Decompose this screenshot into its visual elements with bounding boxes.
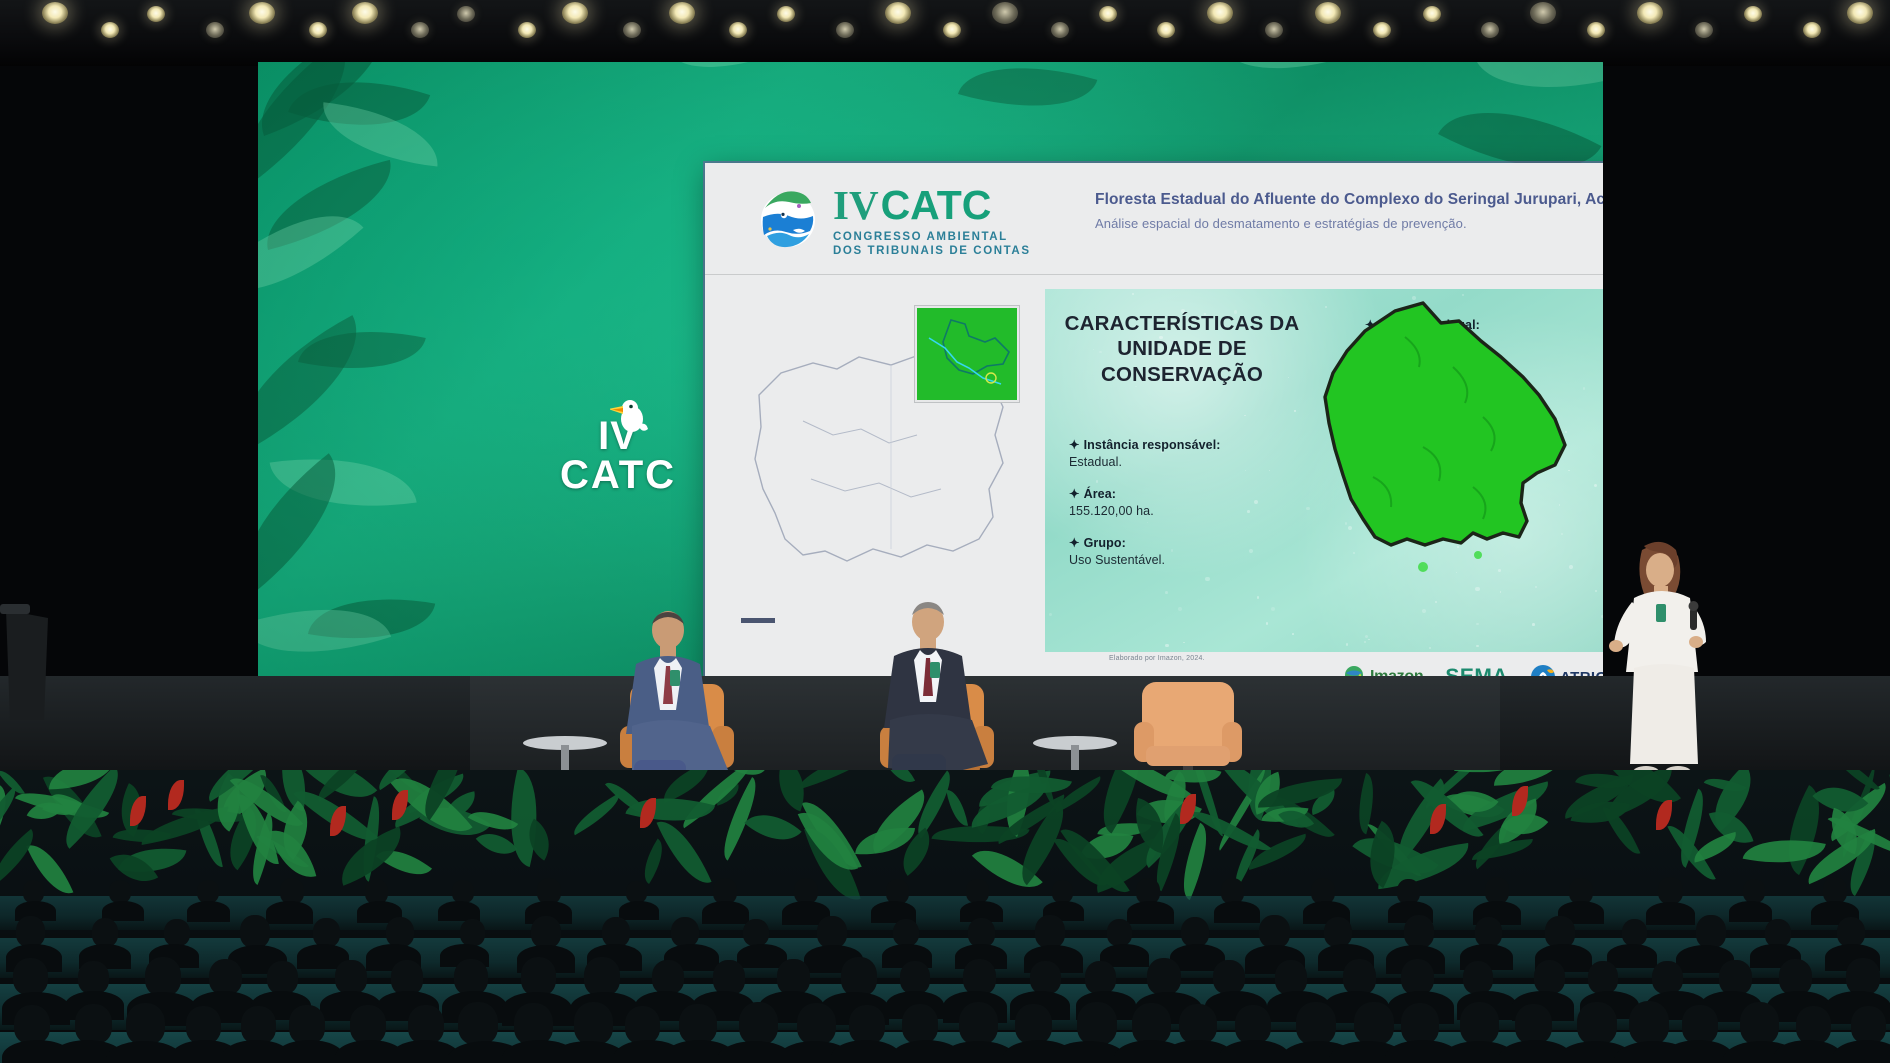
audience-head <box>280 878 304 904</box>
ceiling-light <box>1803 22 1821 38</box>
audience-head <box>23 880 44 903</box>
audience-head <box>1259 915 1290 948</box>
audience-head <box>1740 1002 1780 1045</box>
audience-shoulders <box>187 901 230 922</box>
partner-logos: Imazon SEMA ATRICON <box>1341 657 1603 676</box>
audience-head <box>1475 917 1502 947</box>
conservation-unit-polygon <box>1273 297 1603 649</box>
audience-head <box>335 960 366 994</box>
ceiling-light <box>309 22 327 38</box>
ceiling-light <box>1481 22 1499 38</box>
audience-head <box>1765 919 1791 947</box>
bullet-marker-icon: ✦ <box>1069 536 1080 550</box>
audience-head <box>713 960 745 994</box>
ceiling-light <box>562 2 588 24</box>
leaf-decoration <box>958 62 1097 130</box>
audience-head <box>1136 878 1160 904</box>
audience-head <box>1354 1002 1393 1045</box>
texture-speck <box>1049 613 1052 616</box>
audience-head <box>574 1002 613 1045</box>
audience-head <box>240 915 271 948</box>
audience-head <box>1463 961 1494 994</box>
audience-head <box>1577 1002 1617 1045</box>
atricon-mark-icon <box>1530 664 1556 676</box>
audience-head <box>1324 917 1352 948</box>
slide-brand-tagline1: CONGRESSO AMBIENTAL <box>833 232 1031 244</box>
decorative-plant <box>885 770 916 789</box>
ceiling-light <box>1744 6 1762 22</box>
audience-head <box>1696 915 1726 947</box>
audience-head <box>267 961 298 994</box>
audience-head <box>1569 878 1593 904</box>
ceiling-light <box>885 2 911 24</box>
audience-head <box>365 879 388 904</box>
audience-head <box>1397 879 1420 904</box>
audience-head <box>452 880 473 903</box>
audience-head <box>1629 1001 1670 1045</box>
atricon-logo: ATRICON <box>1530 664 1603 676</box>
ceiling-light <box>1423 6 1441 22</box>
audience-head <box>386 917 414 947</box>
slide-brand-acronym: CATC <box>881 182 992 228</box>
ceiling-light <box>777 6 795 22</box>
presentation-slide: IVCATC CONGRESSO AMBIENTAL DOS TRIBUNAIS… <box>705 163 1603 676</box>
slide-brand-text: IVCATC CONGRESSO AMBIENTAL DOS TRIBUNAIS… <box>833 181 1031 257</box>
audience-head <box>1404 915 1435 948</box>
ceiling-light <box>836 22 854 38</box>
ceiling-light <box>101 22 119 38</box>
audience-head <box>602 917 630 947</box>
audience-head <box>14 1005 50 1044</box>
audience-head <box>209 959 242 995</box>
texture-speck <box>1165 591 1168 594</box>
audience-head <box>350 1005 386 1044</box>
audience-head <box>841 957 876 995</box>
texture-speck <box>1462 294 1463 295</box>
ceiling-light <box>1637 2 1663 24</box>
bullet-grupo-label: Grupo: <box>1084 536 1126 550</box>
audience-head <box>1851 1006 1886 1044</box>
audience-head <box>1719 960 1751 995</box>
texture-speck <box>1266 622 1268 624</box>
audience-head <box>78 961 109 994</box>
imazon-logo-text: Imazon <box>1370 668 1423 676</box>
texture-speck <box>1183 642 1184 643</box>
audience-head <box>1132 1003 1170 1044</box>
ceiling-light <box>623 22 641 38</box>
audience-head <box>1147 958 1181 995</box>
audience-head <box>1796 1006 1831 1044</box>
audience-head <box>186 1006 221 1044</box>
ceiling-light <box>1207 2 1233 24</box>
audience-head <box>164 919 190 947</box>
ceiling-light <box>669 2 695 24</box>
audience-head <box>241 1006 276 1044</box>
audience-head <box>652 960 683 994</box>
slide-brand-tagline2: DOS TRIBUNAIS DE CONTAS <box>833 246 1031 258</box>
lectern <box>0 600 60 730</box>
ceiling-light <box>992 2 1018 24</box>
audience-head <box>460 919 485 946</box>
slide-header: IVCATC CONGRESSO AMBIENTAL DOS TRIBUNAIS… <box>705 163 1603 275</box>
bullet-marker-icon: ✦ <box>1069 487 1080 501</box>
slide-title-block: Floresta Estadual do Afluente do Complex… <box>1095 191 1603 231</box>
audience-head <box>92 918 119 947</box>
audience-shoulders <box>702 901 749 924</box>
audience-head <box>1823 877 1848 904</box>
audience-head <box>886 879 909 904</box>
bullet-instancia: ✦Instância responsável: Estadual. <box>1069 437 1301 469</box>
ceiling-light <box>206 22 224 38</box>
audience-head <box>289 1005 324 1043</box>
audience-head <box>458 1002 498 1045</box>
ceiling-light <box>1373 22 1391 38</box>
audience-head <box>16 916 45 947</box>
audience-head <box>1401 1003 1439 1044</box>
sema-logo: SEMA <box>1445 665 1508 676</box>
bullet-instancia-value: Estadual. <box>1069 455 1301 469</box>
audience-shoulders <box>1214 901 1260 923</box>
audience-head <box>739 1002 778 1045</box>
decorative-plant <box>1350 773 1383 834</box>
audience-head <box>959 1002 999 1045</box>
audience-head <box>1221 878 1244 903</box>
audience-head <box>1460 1002 1499 1045</box>
wall-logo-left: IV CATC <box>558 417 678 495</box>
audience-head <box>1035 915 1065 947</box>
globe-icon <box>753 184 823 254</box>
audience-head <box>1275 960 1307 995</box>
audience-head <box>794 878 819 905</box>
audience-head <box>1213 960 1245 994</box>
audience-head <box>1485 877 1510 904</box>
audience-head <box>817 916 847 948</box>
stage-scene: IV CATC CONGRESSO AMBIENTAL DOS TRIBUNAI… <box>0 0 1890 1063</box>
audience-head <box>75 1004 112 1044</box>
audience-head <box>1622 919 1647 946</box>
ceiling-light <box>1265 22 1283 38</box>
leaf-decoration <box>258 582 391 676</box>
ceiling-light <box>1530 2 1556 24</box>
leaf-decoration <box>1474 62 1603 110</box>
ceiling-light <box>518 22 536 38</box>
slide-brand-roman: IV <box>833 182 879 228</box>
audience-head <box>1545 916 1574 948</box>
microphone-icon <box>1690 608 1697 630</box>
standing-presenter <box>1598 540 1728 780</box>
texture-speck <box>1244 415 1245 416</box>
audience-head <box>849 1005 885 1044</box>
audience-head <box>1296 1002 1336 1045</box>
audience-head <box>743 919 769 947</box>
map-credit: Elaborado por Imazon, 2024. <box>1109 655 1205 662</box>
bullets-left-column: ✦Instância responsável: Estadual. ✦Área:… <box>1069 437 1301 584</box>
ceiling-light <box>1695 22 1713 38</box>
audience-head <box>893 919 919 947</box>
audience-head <box>1743 879 1765 903</box>
audience-head <box>1179 1004 1217 1045</box>
audience-head <box>454 959 488 995</box>
imazon-globe-leaf-icon <box>1341 664 1367 676</box>
ceiling-light <box>1051 22 1069 38</box>
audience-head <box>1658 877 1683 904</box>
ceiling-light <box>42 2 68 24</box>
leaf-decoration <box>668 62 797 94</box>
audience-area <box>0 770 1890 1063</box>
audience-head <box>145 957 181 996</box>
audience-shoulders <box>1607 944 1656 968</box>
characteristics-panel: CARACTERÍSTICAS DA UNIDADE DE CONSERVAÇÃ… <box>1045 289 1603 652</box>
audience-head <box>1030 961 1061 994</box>
ceiling-light <box>457 6 475 22</box>
audience-shoulders <box>438 901 480 921</box>
decorative-plant <box>946 788 968 829</box>
audience-shoulders <box>1127 901 1174 924</box>
audience-shoulders <box>619 901 659 921</box>
red-flower <box>168 780 184 810</box>
audience-head <box>1015 1004 1052 1044</box>
decorative-plant <box>567 793 625 834</box>
slide-brand-logo: IVCATC CONGRESSO AMBIENTAL DOS TRIBUNAIS… <box>753 181 1031 257</box>
audience-shoulders <box>1646 902 1695 926</box>
audience-head <box>408 1005 444 1044</box>
ceiling-light <box>1315 2 1341 24</box>
slide-title: Floresta Estadual do Afluente do Complex… <box>1095 191 1603 209</box>
decorative-plant <box>794 770 880 789</box>
audience-head <box>777 959 810 995</box>
texture-speck <box>1257 596 1260 599</box>
audience-head <box>584 957 620 996</box>
audience-head <box>671 917 699 948</box>
ceiling-light <box>1099 6 1117 22</box>
audience-head <box>1779 959 1812 994</box>
leaf-decoration <box>1223 62 1352 92</box>
audience-head <box>13 958 48 996</box>
panel-title: CARACTERÍSTICAS DA UNIDADE DE CONSERVAÇÃ… <box>1059 311 1305 387</box>
ceiling-light <box>943 22 961 38</box>
audience-head <box>626 881 647 903</box>
audience-head <box>966 879 988 903</box>
audience-head <box>1181 917 1209 948</box>
audience-head <box>679 1004 716 1044</box>
bullet-grupo-value: Uso Sustentável. <box>1069 553 1301 567</box>
decorative-plant <box>635 838 672 883</box>
audience-head <box>537 878 561 904</box>
audience-head <box>1235 1005 1271 1044</box>
ceiling-light <box>1587 22 1605 38</box>
slide-brand-title: IVCATC <box>833 185 1031 226</box>
audience-head <box>1515 1004 1552 1044</box>
bullet-grupo: ✦Grupo: Uso Sustentável. <box>1069 535 1301 567</box>
atricon-logo-text: ATRICON <box>1560 669 1603 677</box>
bullet-area-heading: ✦Área: <box>1069 486 1301 501</box>
ceiling-light <box>352 2 378 24</box>
audience-head <box>1682 1005 1718 1043</box>
bullet-area-value: 155.120,00 ha. <box>1069 504 1301 518</box>
bullet-grupo-heading: ✦Grupo: <box>1069 535 1301 550</box>
audience-head <box>1846 958 1880 995</box>
bullet-area: ✦Área: 155.120,00 ha. <box>1069 486 1301 518</box>
decorative-plant <box>1690 832 1740 863</box>
ceiling-light <box>249 2 275 24</box>
ceiling-light <box>1847 2 1873 24</box>
texture-speck <box>1178 607 1182 611</box>
texture-speck <box>1165 644 1168 647</box>
wall-logo-acronym: CATC <box>558 455 678 495</box>
audience-head <box>514 1003 553 1045</box>
audience-head <box>1077 1002 1117 1045</box>
bullet-area-label: Área: <box>1084 487 1116 501</box>
inset-locator-map <box>915 306 1019 402</box>
audience-head <box>1401 959 1435 996</box>
bullet-instancia-label: Instância responsável: <box>1084 438 1221 452</box>
ceiling-light <box>729 22 747 38</box>
audience-head <box>1085 961 1115 994</box>
slide-subtitle: Análise espacial do desmatamento e estra… <box>1095 216 1603 231</box>
audience-head <box>197 880 219 904</box>
audience-head <box>521 957 557 996</box>
audience-head <box>1343 959 1376 995</box>
audience-head <box>1652 961 1683 995</box>
ceiling-light <box>1157 22 1175 38</box>
ceiling-light <box>411 22 429 38</box>
audience-head <box>797 1003 836 1045</box>
audience-head <box>1311 878 1335 904</box>
audience-head <box>625 1006 660 1044</box>
audience-head <box>1534 960 1566 994</box>
led-backdrop-wall: IV CATC CONGRESSO AMBIENTAL DOS TRIBUNAI… <box>258 62 1603 676</box>
texture-speck <box>1132 293 1134 295</box>
audience-shoulders <box>266 901 313 924</box>
decorative-plant <box>1493 770 1562 786</box>
audience-head <box>1837 917 1866 948</box>
audience-head <box>902 1004 939 1044</box>
audience-head <box>1107 919 1132 946</box>
audience-head <box>313 918 340 947</box>
audience-head <box>713 878 737 904</box>
audience-head <box>900 961 930 993</box>
audience-head <box>1052 880 1073 903</box>
audience-head <box>531 916 561 948</box>
audience-head <box>126 1003 165 1045</box>
audience-head <box>391 960 423 995</box>
bullet-instancia-heading: ✦Instância responsável: <box>1069 437 1301 452</box>
audience-head <box>968 918 995 947</box>
ceiling-light <box>147 6 165 22</box>
audience-head <box>109 880 131 903</box>
inset-map-graphic <box>917 308 1019 402</box>
imazon-logo: Imazon <box>1341 664 1423 676</box>
audience-head <box>1588 961 1618 994</box>
bullet-marker-icon: ✦ <box>1069 438 1080 452</box>
audience-shoulders <box>1729 901 1773 922</box>
toucan-icon <box>610 395 652 439</box>
audience-head <box>963 959 996 995</box>
